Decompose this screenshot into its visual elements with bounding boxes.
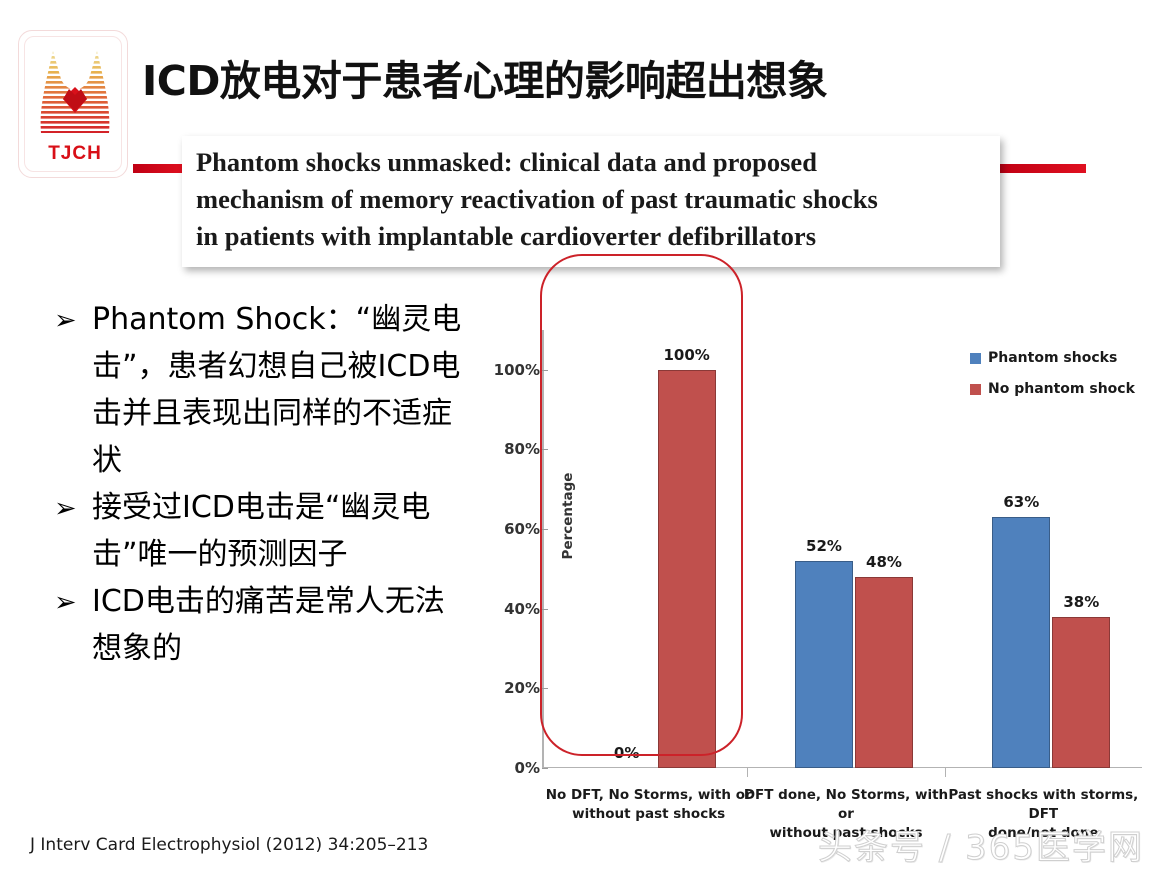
bullet-text: 接受过ICD电击是“幽灵电击”唯一的预测因子 [92,490,430,572]
chart-legend: Phantom shocksNo phantom shock [970,350,1135,412]
y-axis-tick-mark [542,609,548,610]
legend-color-swatch [970,384,981,395]
bullet-arrow-icon: ➢ [54,581,77,625]
list-item: ➢ 接受过ICD电击是“幽灵电击”唯一的预测因子 [48,484,468,578]
watermark: 头条号 / 365医学网 [818,820,1144,869]
legend-color-swatch [970,353,981,364]
x-axis-category-line: Past shocks with storms, DFT [939,786,1148,824]
bar-value-label: 52% [795,537,853,555]
y-axis-tick-label: 80% [484,440,540,458]
y-axis-tick-mark [542,768,548,769]
bullet-text: Phantom Shock：“幽灵电击”，患者幻想自己被ICD电击并且表现出同样… [92,302,461,478]
logo-acronym: TJCH [25,143,125,165]
bar-value-label: 0% [598,744,656,762]
bar[interactable] [795,561,853,768]
list-item: ➢ Phantom Shock：“幽灵电击”，患者幻想自己被ICD电击并且表现出… [48,296,468,484]
y-axis-tick-mark [542,688,548,689]
paper-title-line-1: Phantom shocks unmasked: clinical data a… [196,144,986,181]
bar-value-label: 38% [1052,593,1110,611]
bar-group: 52%48% [747,330,944,768]
x-axis-category-line: DFT done, No Storms, with or [741,786,950,824]
bar[interactable] [992,517,1050,768]
bullet-text: ICD电击的痛苦是常人无法想象的 [92,584,445,666]
y-axis-tick-mark [542,449,548,450]
y-axis-tick-mark [542,529,548,530]
x-axis-divider-tick [747,768,748,777]
bullet-list: ➢ Phantom Shock：“幽灵电击”，患者幻想自己被ICD电击并且表现出… [48,296,468,672]
bar[interactable] [1052,617,1110,768]
tjch-hospital-logo: TJCH [18,30,128,178]
y-axis-tick-mark [542,370,548,371]
paper-title-box: Phantom shocks unmasked: clinical data a… [182,136,1000,267]
heart-m-mark-icon [37,49,113,137]
legend-label: No phantom shock [988,381,1135,397]
bar[interactable] [658,370,716,768]
y-axis-tick-label: 100% [484,361,540,379]
logo-inner-border: TJCH [24,36,122,172]
bar[interactable] [855,577,913,768]
y-axis-tick-label: 0% [484,759,540,777]
y-axis-tick-label: 40% [484,600,540,618]
bullet-arrow-icon: ➢ [54,487,77,531]
legend-item[interactable]: Phantom shocks [970,350,1135,366]
y-axis-line [542,330,544,768]
legend-item[interactable]: No phantom shock [970,381,1135,397]
bullet-arrow-icon: ➢ [54,299,77,343]
slide-canvas: TJCH ICD放电对于患者心理的影响超出想象 Phantom shocks u… [0,0,1164,869]
bar-group: 0%100% [550,330,747,768]
bar-value-label: 63% [992,493,1050,511]
x-axis-divider-tick [945,768,946,777]
list-item: ➢ ICD电击的痛苦是常人无法想象的 [48,578,468,672]
page-title: ICD放电对于患者心理的影响超出想象 [142,56,1042,106]
x-axis-category-label: No DFT, No Storms, with orwithout past s… [544,786,753,824]
y-axis-tick-label: 20% [484,679,540,697]
chart-plot-area: Percentage 0%20%40%60%80%100% 0%100%52%4… [550,330,1142,768]
paper-title-line-3: in patients with implantable cardioverte… [196,218,986,255]
bar-value-label: 48% [855,553,913,571]
grouped-bar-chart: Percentage 0%20%40%60%80%100% 0%100%52%4… [470,318,1160,818]
x-axis-category-line: No DFT, No Storms, with or [544,786,753,805]
title-rule-right [1000,164,1086,173]
x-axis-category-line: without past shocks [544,805,753,824]
source-citation: J Interv Card Electrophysiol (2012) 34:2… [30,835,428,855]
title-rule-left [133,164,185,173]
y-axis-tick-label: 60% [484,520,540,538]
paper-title-line-2: mechanism of memory reactivation of past… [196,181,986,218]
bar-value-label: 100% [658,346,716,364]
legend-label: Phantom shocks [988,350,1117,366]
